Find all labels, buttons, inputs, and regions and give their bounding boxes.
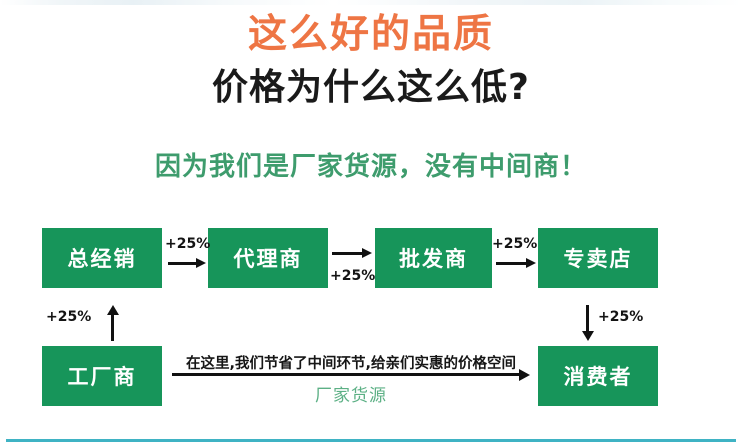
arrow-head — [362, 248, 372, 258]
arrow-right-icon-1 — [168, 258, 206, 270]
arrow-shaft — [111, 314, 114, 341]
flow-node-exclusive-store: 专卖店 — [538, 228, 658, 288]
arrow-head — [519, 369, 530, 381]
markup-label-3: +25% — [492, 236, 537, 252]
markup-label-1: +25% — [165, 236, 210, 252]
arrow-head — [582, 331, 594, 341]
arrow-shaft — [168, 262, 198, 265]
arrow-shaft — [586, 305, 589, 332]
source-label: 厂家货源 — [172, 381, 530, 406]
top-decorative-band — [0, 0, 742, 5]
arrow-shaft — [332, 252, 364, 255]
markup-label-5: +25% — [598, 309, 643, 325]
flow-node-factory: 工厂商 — [42, 346, 162, 406]
markup-label-4: +25% — [46, 309, 91, 325]
promo-infographic: 这么好的品质 价格为什么这么低? 因为我们是厂家货源，没有中间商！ 总经销 代理… — [0, 0, 742, 447]
tagline: 因为我们是厂家货源，没有中间商！ — [0, 150, 742, 184]
arrow-shaft — [172, 373, 520, 376]
arrow-shaft — [496, 262, 528, 265]
arrow-right-icon-3 — [496, 258, 536, 270]
page-title: 这么好的品质 — [0, 12, 742, 58]
arrow-right-icon-long — [172, 369, 530, 381]
flow-node-general-distributor: 总经销 — [42, 228, 162, 288]
flow-node-agent: 代理商 — [208, 228, 328, 288]
flow-node-wholesaler: 批发商 — [375, 228, 492, 288]
arrow-up-icon — [107, 305, 119, 341]
arrow-right-icon-2 — [332, 248, 372, 260]
markup-label-2: +25% — [330, 268, 375, 284]
bottom-divider — [6, 439, 736, 442]
arrow-down-icon — [582, 305, 594, 341]
arrow-head — [196, 258, 206, 268]
flow-node-consumer: 消费者 — [538, 346, 658, 406]
arrow-head — [526, 258, 536, 268]
page-subtitle: 价格为什么这么低? — [0, 66, 742, 110]
